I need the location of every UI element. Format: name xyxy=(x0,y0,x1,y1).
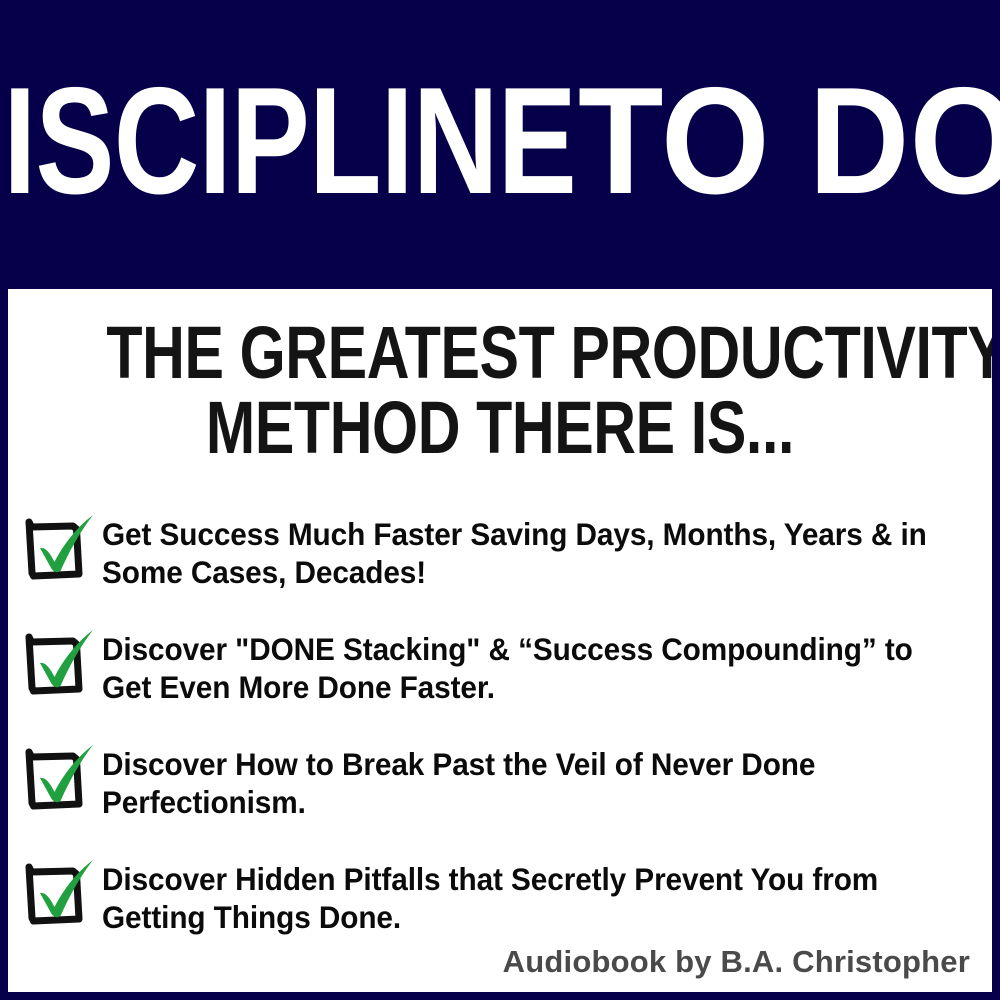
cover-title: DISCIPLINETO DONE xyxy=(0,79,1000,204)
audiobook-cover: DISCIPLINETO DONE THE GREATEST PRODUCTIV… xyxy=(0,0,1000,1000)
cover-body-panel: THE GREATEST PRODUCTIVITY METHOD THERE I… xyxy=(8,289,992,992)
headline-line-1: THE GREATEST PRODUCTIVITY xyxy=(106,315,893,390)
list-item-text: Discover How to Break Past the Veil of N… xyxy=(102,737,935,822)
checked-checkbox-icon xyxy=(24,854,102,928)
cover-title-part-a: DISCIPLINE xyxy=(0,79,576,204)
list-item-text: Discover "DONE Stacking" & “Success Comp… xyxy=(102,622,935,707)
list-item: Discover "DONE Stacking" & “Success Comp… xyxy=(24,622,984,708)
list-item: Get Success Much Faster Saving Days, Mon… xyxy=(24,507,984,593)
list-item: Discover Hidden Pitfalls that Secretly P… xyxy=(24,852,984,938)
cover-title-part-b: TO DONE xyxy=(578,79,1000,204)
list-item: Discover How to Break Past the Veil of N… xyxy=(24,737,984,823)
list-item-text: Get Success Much Faster Saving Days, Mon… xyxy=(102,507,935,592)
benefit-bullet-list: Get Success Much Faster Saving Days, Mon… xyxy=(24,507,984,938)
list-item-text: Discover Hidden Pitfalls that Secretly P… xyxy=(102,852,935,937)
headline: THE GREATEST PRODUCTIVITY METHOD THERE I… xyxy=(8,315,992,466)
cover-header-band: DISCIPLINETO DONE xyxy=(0,0,1000,289)
headline-line-2: METHOD THERE IS... xyxy=(106,390,893,465)
checked-checkbox-icon xyxy=(24,739,102,813)
checked-checkbox-icon xyxy=(24,624,102,698)
checked-checkbox-icon xyxy=(24,509,102,583)
author-byline: Audiobook by B.A. Christopher xyxy=(503,944,970,980)
